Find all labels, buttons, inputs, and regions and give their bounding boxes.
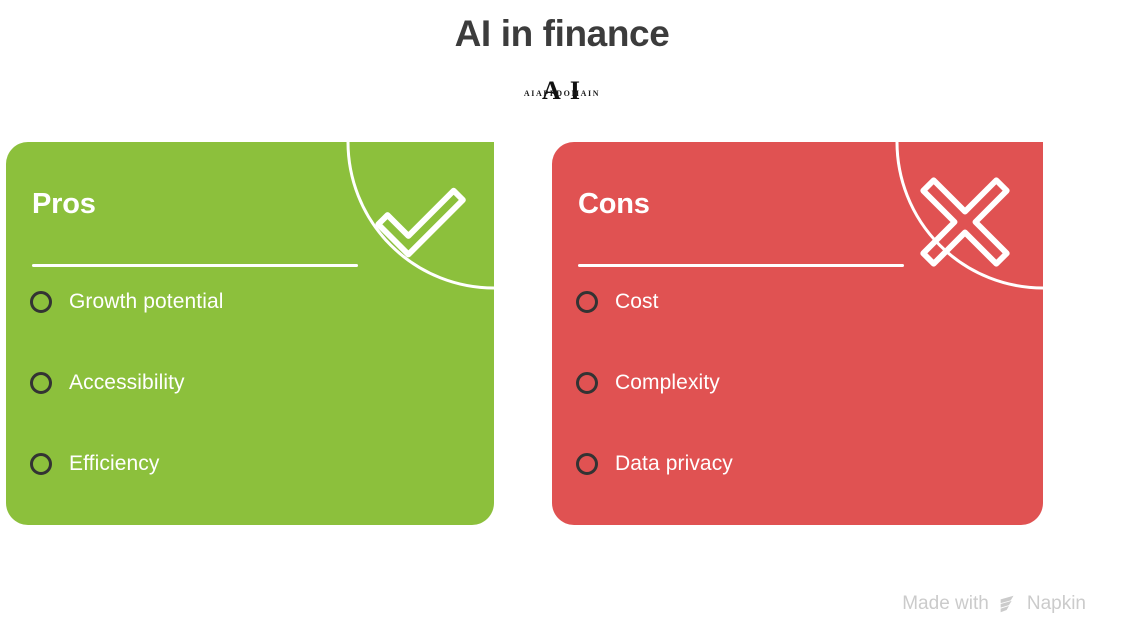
list-item[interactable]: Accessibility	[24, 371, 464, 452]
list-item-label: Efficiency	[69, 452, 160, 476]
cross-icon	[907, 164, 1023, 280]
napkin-label: Napkin	[1027, 592, 1086, 616]
bullet-ring-icon	[576, 372, 598, 394]
list-item[interactable]: Complexity	[570, 371, 1010, 452]
list-item-label: Growth potential	[69, 290, 224, 314]
bullet-ring-icon	[30, 453, 52, 475]
pros-list: Growth potential Accessibility Efficienc…	[24, 290, 464, 525]
cons-list: Cost Complexity Data privacy	[570, 290, 1010, 525]
list-item[interactable]: Growth potential	[24, 290, 464, 371]
made-with-label: Made with	[902, 592, 989, 616]
bullet-ring-icon	[576, 291, 598, 313]
pros-card-title: Pros	[32, 186, 96, 222]
napkin-logo-icon	[997, 593, 1019, 615]
check-icon	[362, 164, 478, 280]
made-with-napkin-credit[interactable]: Made with Napkin	[902, 592, 1086, 616]
cons-card[interactable]: Cons Cost Complexity Data privacy	[552, 142, 1043, 525]
bullet-ring-icon	[30, 291, 52, 313]
list-item-label: Accessibility	[69, 371, 185, 395]
pros-card-divider	[32, 264, 358, 267]
brand-wordmark: AIAPPDOMAIN	[462, 89, 662, 99]
bullet-ring-icon	[30, 372, 52, 394]
page-title: AI in finance	[0, 11, 1124, 57]
list-item[interactable]: Cost	[570, 290, 1010, 371]
pros-card[interactable]: Pros Growth potential Accessibility Effi…	[6, 142, 494, 525]
cons-card-divider	[578, 264, 904, 267]
slide-canvas: AI in finance A I AIAPPDOMAIN Pros Growt…	[0, 0, 1124, 628]
cons-card-title: Cons	[578, 186, 650, 222]
bullet-ring-icon	[576, 453, 598, 475]
list-item[interactable]: Efficiency	[24, 452, 464, 525]
list-item[interactable]: Data privacy	[570, 452, 1010, 525]
brand-watermark: A I AIAPPDOMAIN	[462, 76, 662, 116]
list-item-label: Data privacy	[615, 452, 733, 476]
list-item-label: Complexity	[615, 371, 720, 395]
list-item-label: Cost	[615, 290, 659, 314]
